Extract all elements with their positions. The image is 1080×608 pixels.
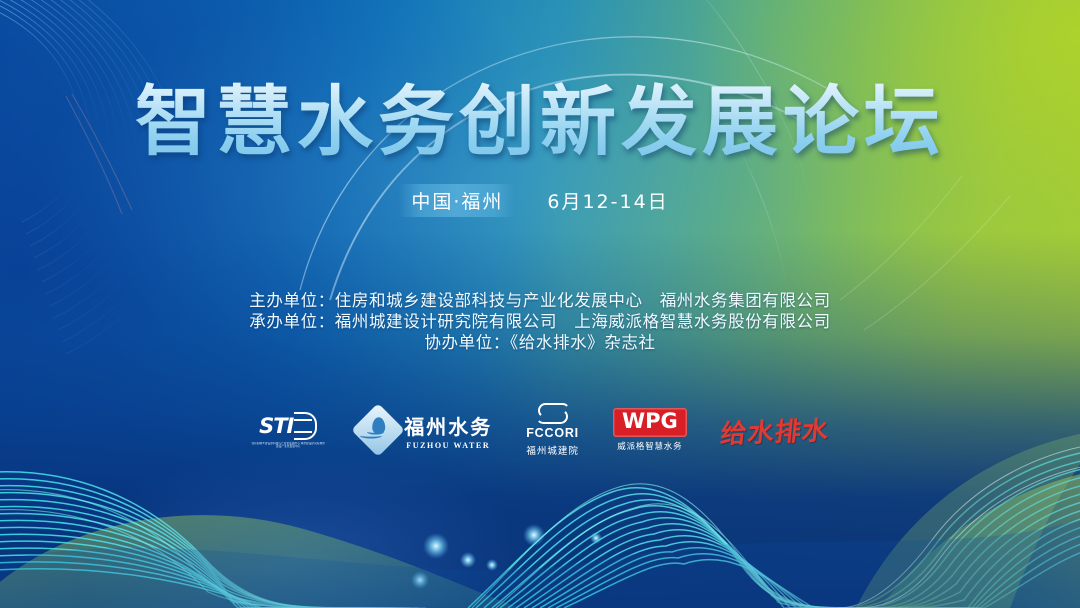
poster-canvas: 智慧水务创新发展论坛 中国·福州 6月12-14日 主办单位：住房和城乡建设部科… [0, 0, 1080, 608]
decorative-waves-bottom [0, 0, 1080, 608]
